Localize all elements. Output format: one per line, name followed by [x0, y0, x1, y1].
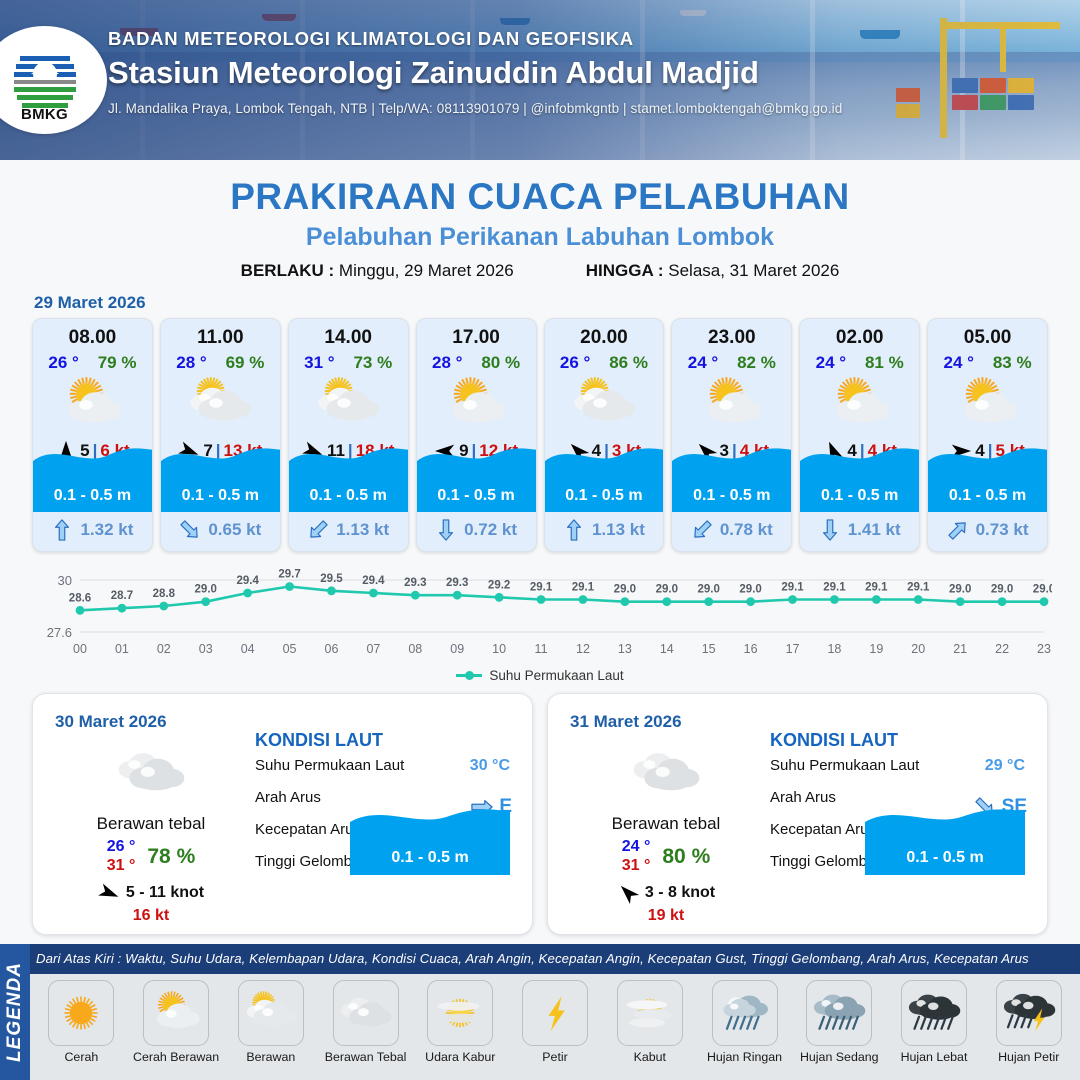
- legend-item: Hujan Ringan: [697, 980, 792, 1064]
- forecast-date-label: 29 Maret 2026: [34, 293, 1080, 313]
- hujan-lebat-icon: [901, 980, 967, 1046]
- legend-item: Hujan Lebat: [887, 980, 982, 1064]
- svg-text:29.0: 29.0: [656, 584, 678, 596]
- card-temperature: 24 °: [688, 353, 718, 373]
- sea-surface-temp: 30 °C: [470, 757, 510, 775]
- card-wave-band: 0.1 - 0.5 m: [800, 464, 919, 512]
- legend-item-label: Berawan: [223, 1050, 318, 1064]
- card-time: 08.00: [33, 319, 152, 349]
- berawan-icon: [238, 980, 304, 1046]
- day-temp-max: 31 °: [622, 857, 651, 876]
- svg-text:22: 22: [995, 642, 1009, 656]
- day-forecast-panel: 30 Maret 2026Berawan tebal26 °31 °78 %5 …: [32, 693, 533, 935]
- bmkg-logo-label: BMKG: [6, 106, 84, 123]
- legend-item-label: Cerah Berawan: [129, 1050, 224, 1064]
- day-temp-max: 31 °: [107, 857, 136, 876]
- contact-info: Jl. Mandalika Praya, Lombok Tengah, NTB …: [108, 101, 968, 116]
- card-time: 02.00: [800, 319, 919, 349]
- svg-text:28.6: 28.6: [69, 592, 91, 604]
- current-direction-arrow-icon: [435, 518, 457, 542]
- forecast-card: 08.0026 °79 %5|6 kt0.1 - 0.5 m1.32 kt: [32, 318, 153, 552]
- cerah-icon: [48, 980, 114, 1046]
- card-temperature: 26 °: [48, 353, 78, 373]
- legend-item-label: Hujan Ringan: [697, 1050, 792, 1064]
- svg-text:29.4: 29.4: [236, 575, 259, 587]
- legend-side-text: LEGENDA: [4, 962, 26, 1062]
- cerah-berawan-icon: [33, 373, 152, 435]
- sea-surface-temp: 29 °C: [985, 757, 1025, 775]
- svg-text:23: 23: [1037, 642, 1051, 656]
- day-wave-height: 0.1 - 0.5 m: [350, 849, 510, 867]
- berawan-tebal-icon: [51, 742, 251, 804]
- svg-text:29.7: 29.7: [278, 569, 300, 581]
- legend-item: Hujan Sedang: [792, 980, 887, 1064]
- svg-text:14: 14: [660, 642, 674, 656]
- svg-text:29.2: 29.2: [488, 579, 510, 591]
- card-time: 20.00: [545, 319, 664, 349]
- svg-text:29.0: 29.0: [195, 584, 217, 596]
- validity-row: BERLAKU : Minggu, 29 Maret 2026 HINGGA :…: [0, 261, 1080, 281]
- svg-text:29.3: 29.3: [446, 577, 468, 589]
- day-temp-min: 26 °: [107, 838, 136, 857]
- card-wave-height: 0.1 - 0.5 m: [289, 487, 408, 505]
- petir-icon: [522, 980, 588, 1046]
- legend-side-label: LEGENDA: [0, 944, 30, 1080]
- hujan-sedang-icon: [806, 980, 872, 1046]
- berawan-icon: [545, 373, 664, 435]
- sea-row-label: Kecepatan Arus: [255, 821, 361, 838]
- page-subtitle: Pelabuhan Perikanan Labuhan Lombok: [0, 223, 1080, 252]
- card-wave-band: 0.1 - 0.5 m: [417, 464, 536, 512]
- legend-item-label: Hujan Sedang: [792, 1050, 887, 1064]
- forecast-card: 05.0024 °83 %4|5 kt0.1 - 0.5 m0.73 kt: [927, 318, 1048, 552]
- svg-text:29.1: 29.1: [781, 582, 804, 594]
- station-name: Stasiun Meteorologi Zainuddin Abdul Madj…: [108, 55, 968, 91]
- svg-text:01: 01: [115, 642, 129, 656]
- svg-text:13: 13: [618, 642, 632, 656]
- card-time: 05.00: [928, 319, 1047, 349]
- agency-name: BADAN METEOROLOGI KLIMATOLOGI DAN GEOFIS…: [108, 28, 968, 50]
- card-temperature: 26 °: [560, 353, 590, 373]
- svg-text:12: 12: [576, 642, 590, 656]
- svg-text:06: 06: [325, 642, 339, 656]
- svg-text:11: 11: [535, 642, 548, 656]
- sea-row-label: Kecepatan Arus: [770, 821, 876, 838]
- day-gust: 16 kt: [51, 907, 251, 925]
- card-humidity: 82 %: [737, 353, 776, 373]
- title-block: PRAKIRAAN CUACA PELABUHAN Pelabuhan Peri…: [0, 160, 1080, 281]
- day-wind-range: 5 - 11 knot: [126, 884, 204, 902]
- day-temp-min: 24 °: [622, 838, 651, 857]
- chart-legend: Suhu Permukaan Laut: [0, 668, 1080, 683]
- legend-item-label: Hujan Lebat: [887, 1050, 982, 1064]
- svg-text:29.1: 29.1: [572, 582, 595, 594]
- card-time: 14.00: [289, 319, 408, 349]
- legend-item: Berawan: [223, 980, 318, 1064]
- berawan-icon: [161, 373, 280, 435]
- current-direction-arrow-icon: [819, 518, 841, 542]
- svg-text:29.0: 29.0: [1033, 584, 1052, 596]
- current-direction-arrow-icon: [51, 518, 73, 542]
- legend-item: Petir: [508, 980, 603, 1064]
- legend-label: Suhu Permukaan Laut: [489, 668, 623, 683]
- cerah-berawan-icon: [417, 373, 536, 435]
- cerah-berawan-icon: [672, 373, 791, 435]
- forecast-card-list: 08.0026 °79 %5|6 kt0.1 - 0.5 m1.32 kt11.…: [0, 318, 1080, 552]
- wind-direction-arrow-icon: [98, 882, 120, 904]
- current-direction-arrow-icon: [307, 518, 329, 542]
- svg-text:05: 05: [283, 642, 297, 656]
- sea-conditions-title: KONDISI LAUT: [255, 730, 516, 751]
- sea-row-label: Suhu Permukaan Laut: [770, 757, 919, 774]
- forecast-card: 20.0026 °86 %4|3 kt0.1 - 0.5 m1.13 kt: [544, 318, 665, 552]
- berawan-tebal-icon: [333, 980, 399, 1046]
- svg-text:29.5: 29.5: [320, 573, 343, 585]
- svg-text:09: 09: [450, 642, 464, 656]
- card-wave-height: 0.1 - 0.5 m: [33, 487, 152, 505]
- card-humidity: 81 %: [865, 353, 904, 373]
- kabut-icon: [617, 980, 683, 1046]
- legend-note: Dari Atas Kiri : Waktu, Suhu Udara, Kele…: [36, 951, 1072, 966]
- sea-row-label: Suhu Permukaan Laut: [255, 757, 404, 774]
- card-wave-height: 0.1 - 0.5 m: [928, 487, 1047, 505]
- cerah-berawan-icon: [143, 980, 209, 1046]
- svg-text:27.6: 27.6: [47, 625, 72, 640]
- svg-text:29.4: 29.4: [362, 575, 385, 587]
- svg-text:08: 08: [408, 642, 422, 656]
- svg-text:29.1: 29.1: [823, 582, 846, 594]
- card-wave-height: 0.1 - 0.5 m: [161, 487, 280, 505]
- svg-text:29.1: 29.1: [865, 582, 888, 594]
- legend-item: Berawan Tebal: [318, 980, 413, 1064]
- svg-text:28.8: 28.8: [153, 588, 176, 600]
- day-humidity: 80 %: [662, 845, 710, 869]
- day-humidity: 78 %: [147, 845, 195, 869]
- day-forecast-panel: 31 Maret 2026Berawan tebal24 °31 °80 %3 …: [547, 693, 1048, 935]
- svg-text:03: 03: [199, 642, 213, 656]
- valid-until: HINGGA : Selasa, 31 Maret 2026: [586, 261, 840, 281]
- card-humidity: 83 %: [993, 353, 1032, 373]
- legend-item-label: Cerah: [34, 1050, 129, 1064]
- card-current-speed: 0.73 kt: [976, 520, 1029, 540]
- card-current-speed: 0.65 kt: [208, 520, 261, 540]
- card-wave-band: 0.1 - 0.5 m: [672, 464, 791, 512]
- forecast-card: 11.0028 °69 %7|13 kt0.1 - 0.5 m0.65 kt: [160, 318, 281, 552]
- card-current-speed: 1.13 kt: [336, 520, 389, 540]
- card-current-speed: 1.32 kt: [80, 520, 133, 540]
- berawan-icon: [289, 373, 408, 435]
- card-wave-band: 0.1 - 0.5 m: [161, 464, 280, 512]
- card-wave-height: 0.1 - 0.5 m: [672, 487, 791, 505]
- day-wave-badge: 0.1 - 0.5 m: [350, 825, 510, 875]
- card-wave-band: 0.1 - 0.5 m: [289, 464, 408, 512]
- legend-item: Cerah Berawan: [129, 980, 224, 1064]
- forecast-card: 02.0024 °81 %4|4 kt0.1 - 0.5 m1.41 kt: [799, 318, 920, 552]
- svg-text:28.7: 28.7: [111, 590, 133, 602]
- legend-item-list: CerahCerah BerawanBerawanBerawan TebalUd…: [30, 974, 1080, 1080]
- day-wind-range: 3 - 8 knot: [645, 884, 715, 902]
- svg-text:16: 16: [744, 642, 758, 656]
- card-humidity: 73 %: [353, 353, 392, 373]
- svg-text:29.3: 29.3: [404, 577, 426, 589]
- svg-text:07: 07: [366, 642, 380, 656]
- hujan-petir-icon: [996, 980, 1062, 1046]
- legend-section: LEGENDA Dari Atas Kiri : Waktu, Suhu Uda…: [0, 944, 1080, 1080]
- svg-text:29.0: 29.0: [739, 584, 761, 596]
- page-header: BMKG BADAN METEOROLOGI KLIMATOLOGI DAN G…: [0, 0, 1080, 160]
- legend-item: Kabut: [602, 980, 697, 1064]
- legend-item-label: Petir: [508, 1050, 603, 1064]
- valid-until-value: Selasa, 31 Maret 2026: [668, 261, 839, 280]
- udara-kabur-icon: [427, 980, 493, 1046]
- card-humidity: 79 %: [98, 353, 137, 373]
- legend-line-marker-icon: [456, 674, 482, 677]
- current-direction-arrow-icon: [179, 518, 201, 542]
- legend-item: Hujan Petir: [981, 980, 1076, 1064]
- svg-text:29.0: 29.0: [698, 584, 720, 596]
- valid-from: BERLAKU : Minggu, 29 Maret 2026: [241, 261, 514, 281]
- forecast-card: 14.0031 °73 %11|18 kt0.1 - 0.5 m1.13 kt: [288, 318, 409, 552]
- card-temperature: 31 °: [304, 353, 334, 373]
- card-humidity: 80 %: [481, 353, 520, 373]
- card-time: 17.00: [417, 319, 536, 349]
- wind-direction-arrow-icon: [617, 882, 639, 904]
- forecast-card: 17.0028 °80 %9|12 kt0.1 - 0.5 m0.72 kt: [416, 318, 537, 552]
- svg-text:19: 19: [869, 642, 883, 656]
- card-temperature: 28 °: [176, 353, 206, 373]
- card-temperature: 24 °: [816, 353, 846, 373]
- svg-text:29.1: 29.1: [530, 582, 553, 594]
- card-wave-height: 0.1 - 0.5 m: [800, 487, 919, 505]
- current-direction-arrow-icon: [947, 518, 969, 542]
- card-wave-band: 0.1 - 0.5 m: [928, 464, 1047, 512]
- legend-item-label: Udara Kabur: [413, 1050, 508, 1064]
- cerah-berawan-icon: [800, 373, 919, 435]
- svg-text:02: 02: [157, 642, 171, 656]
- svg-text:29.0: 29.0: [949, 584, 971, 596]
- svg-text:29.1: 29.1: [907, 582, 930, 594]
- card-time: 11.00: [161, 319, 280, 349]
- card-wave-band: 0.1 - 0.5 m: [545, 464, 664, 512]
- sea-conditions-title: KONDISI LAUT: [770, 730, 1031, 751]
- sst-chart: 3027.628.60028.70128.80229.00329.40429.7…: [28, 562, 1052, 662]
- card-temperature: 24 °: [944, 353, 974, 373]
- svg-text:30: 30: [58, 573, 72, 588]
- svg-text:10: 10: [492, 642, 506, 656]
- card-current-speed: 1.41 kt: [848, 520, 901, 540]
- valid-until-label: HINGGA :: [586, 261, 664, 280]
- svg-text:29.0: 29.0: [991, 584, 1013, 596]
- current-direction-arrow-icon: [691, 518, 713, 542]
- day-condition: Berawan tebal: [51, 814, 251, 834]
- card-humidity: 69 %: [226, 353, 265, 373]
- day-date: 31 Maret 2026: [570, 712, 682, 732]
- card-wave-band: 0.1 - 0.5 m: [33, 464, 152, 512]
- legend-item: Cerah: [34, 980, 129, 1064]
- svg-text:29.0: 29.0: [614, 584, 636, 596]
- page-title: PRAKIRAAN CUACA PELABUHAN: [0, 176, 1080, 218]
- sea-row-label: Arah Arus: [770, 789, 836, 806]
- day-wave-height: 0.1 - 0.5 m: [865, 849, 1025, 867]
- card-wave-height: 0.1 - 0.5 m: [417, 487, 536, 505]
- svg-text:20: 20: [911, 642, 925, 656]
- card-current-speed: 1.13 kt: [592, 520, 645, 540]
- svg-text:00: 00: [73, 642, 87, 656]
- card-current-speed: 0.78 kt: [720, 520, 773, 540]
- legend-item: Udara Kabur: [413, 980, 508, 1064]
- card-wave-height: 0.1 - 0.5 m: [545, 487, 664, 505]
- legend-item-label: Berawan Tebal: [318, 1050, 413, 1064]
- current-direction-arrow-icon: [563, 518, 585, 542]
- svg-text:15: 15: [702, 642, 716, 656]
- legend-item-label: Hujan Petir: [981, 1050, 1076, 1064]
- day-wave-badge: 0.1 - 0.5 m: [865, 825, 1025, 875]
- berawan-tebal-icon: [566, 742, 766, 804]
- daily-forecast-panels: 30 Maret 2026Berawan tebal26 °31 °78 %5 …: [0, 683, 1080, 935]
- svg-text:04: 04: [241, 642, 255, 656]
- svg-text:17: 17: [786, 642, 800, 656]
- cerah-berawan-icon: [928, 373, 1047, 435]
- card-time: 23.00: [672, 319, 791, 349]
- day-date: 30 Maret 2026: [55, 712, 167, 732]
- valid-from-label: BERLAKU :: [241, 261, 335, 280]
- card-temperature: 28 °: [432, 353, 462, 373]
- day-gust: 19 kt: [566, 907, 766, 925]
- card-humidity: 86 %: [609, 353, 648, 373]
- card-current-speed: 0.72 kt: [464, 520, 517, 540]
- svg-text:18: 18: [827, 642, 841, 656]
- valid-from-value: Minggu, 29 Maret 2026: [339, 261, 514, 280]
- svg-text:21: 21: [953, 642, 967, 656]
- legend-item-label: Kabut: [602, 1050, 697, 1064]
- forecast-card: 23.0024 °82 %3|4 kt0.1 - 0.5 m0.78 kt: [671, 318, 792, 552]
- sea-row-label: Arah Arus: [255, 789, 321, 806]
- day-condition: Berawan tebal: [566, 814, 766, 834]
- hujan-ringan-icon: [712, 980, 778, 1046]
